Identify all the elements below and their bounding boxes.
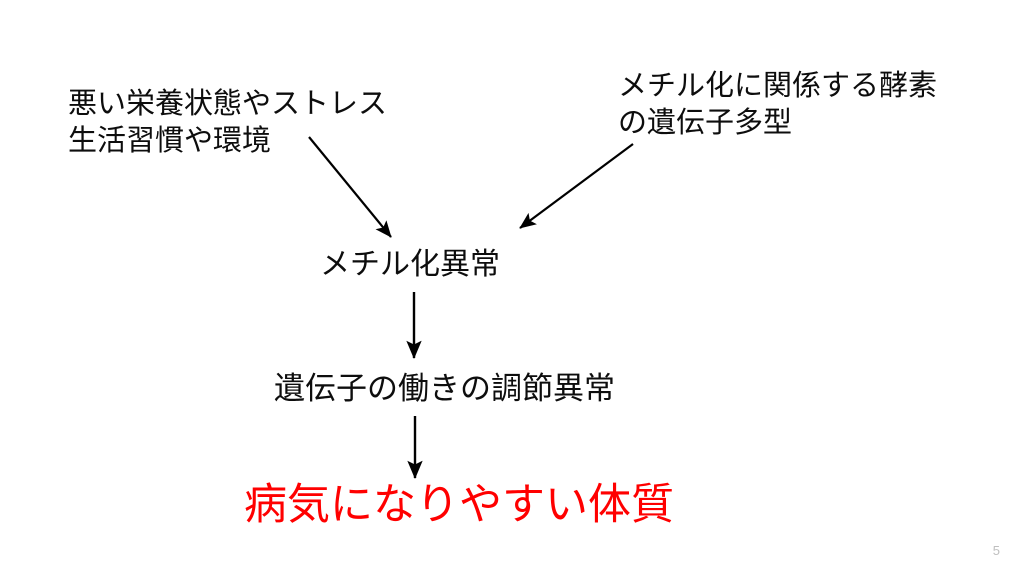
node-cause-left: 悪い栄養状態やストレス 生活習慣や環境 (68, 86, 387, 160)
slide-canvas: 悪い栄養状態やストレス 生活習慣や環境 メチル化に関係する酵素 の遺伝子多型 メ… (0, 0, 1024, 576)
arrow-right-diagonal (520, 144, 633, 228)
node-disease-prone-constitution: 病気になりやすい体質 (244, 478, 674, 533)
node-gene-regulation-abnormality: 遺伝子の働きの調節異常 (274, 369, 615, 409)
node-cause-right: メチル化に関係する酵素 の遺伝子多型 (618, 68, 937, 142)
page-number: 5 (993, 543, 1000, 558)
node-methylation-abnormality: メチル化異常 (320, 246, 500, 284)
